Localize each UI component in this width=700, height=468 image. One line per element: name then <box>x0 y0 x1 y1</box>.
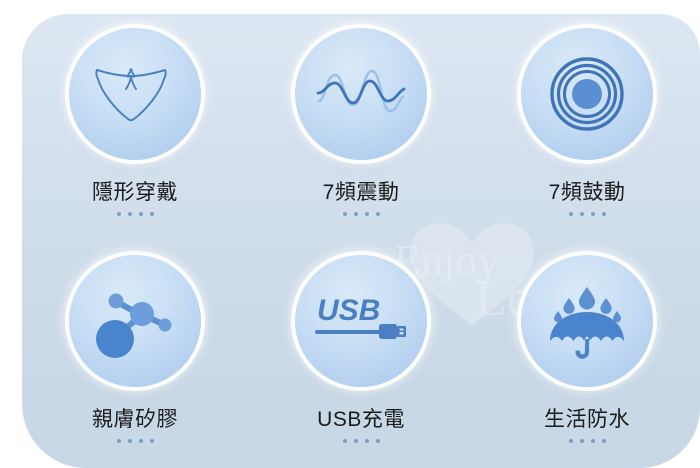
concentric-rings-icon <box>549 56 625 132</box>
feature-cell-invisible-wear[interactable]: 隱形穿戴 <box>22 14 248 241</box>
feature-label: 隱形穿戴 <box>92 182 178 203</box>
panties-icon <box>90 59 180 129</box>
feature-badge <box>295 28 427 160</box>
feature-label: 生活防水 <box>544 409 630 430</box>
feature-badge <box>69 255 201 387</box>
feature-dots <box>117 212 154 216</box>
umbrella-rain-icon <box>544 279 630 363</box>
feature-label: 親膚矽膠 <box>92 409 178 430</box>
feature-cell-pulsation[interactable]: 7頻鼓動 <box>474 14 700 241</box>
feature-badge <box>521 255 653 387</box>
feature-badge <box>521 28 653 160</box>
feature-grid-screen: Enjoy Love 隱形穿戴 <box>0 0 700 468</box>
feature-grid: 隱形穿戴 7頻震動 <box>22 14 700 468</box>
feature-dots <box>343 439 380 443</box>
feature-badge: USB <box>295 255 427 387</box>
feature-label: 7頻震動 <box>323 182 400 203</box>
feature-label: USB充電 <box>317 409 405 430</box>
feature-dots <box>343 212 380 216</box>
feature-dots <box>117 439 154 443</box>
molecule-icon <box>91 281 179 361</box>
feature-dots <box>569 212 606 216</box>
feature-cell-usb[interactable]: USB USB充電 <box>248 241 474 468</box>
waveform-icon <box>315 61 407 127</box>
feature-label: 7頻鼓動 <box>549 182 626 203</box>
feature-cell-silicone[interactable]: 親膚矽膠 <box>22 241 248 468</box>
feature-cell-waterproof[interactable]: 生活防水 <box>474 241 700 468</box>
usb-cable-icon: USB <box>311 290 411 352</box>
feature-badge <box>69 28 201 160</box>
usb-icon-text: USB <box>317 294 380 327</box>
feature-cell-vibration[interactable]: 7頻震動 <box>248 14 474 241</box>
feature-dots <box>569 439 606 443</box>
